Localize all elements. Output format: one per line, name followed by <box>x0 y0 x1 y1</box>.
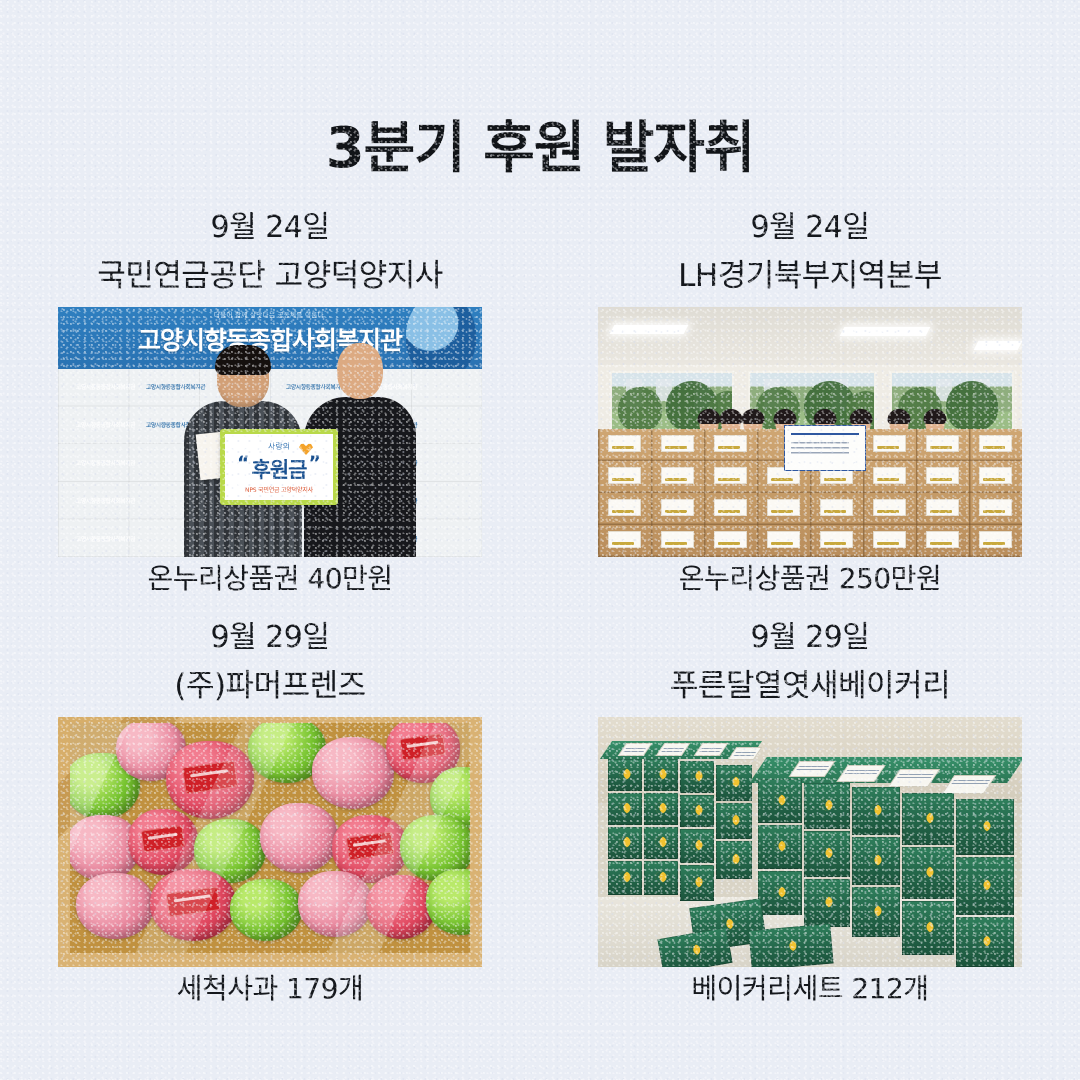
backdrop-logo: 고양시향동종합사회복지관 <box>76 535 135 543</box>
backdrop-logo: 고양시향동종합사회복지관 <box>76 421 135 429</box>
backdrop-logo: 고양시향동종합사회복지관 <box>286 383 345 391</box>
backdrop-logo: 고양시향동종합사회복지관 <box>76 383 135 391</box>
card-organization: 국민연금공단 고양덕양지사 <box>0 258 540 295</box>
placard-title: 후원금 <box>225 454 333 484</box>
donation-ceremony-photo: 더불어 함께 살맛나는 공동체를 이룬다. 고양시향동종합사회복지관 고양시향동… <box>58 307 482 557</box>
ceiling-light <box>840 327 931 336</box>
donation-card: 9월 29일 푸른달열엿새베이커리 <box>540 606 1080 1016</box>
card-caption: 온누리상품권 250만원 <box>540 562 1080 596</box>
card-caption: 세척사과 179개 <box>0 972 540 1006</box>
backdrop-logo: 고양시향동종합사회복지관 <box>76 497 135 505</box>
placard-subtitle: 사랑의 <box>225 441 333 452</box>
ceiling-light <box>610 325 689 334</box>
donation-card: 9월 29일 (주)파머프렌즈 <box>0 606 540 1016</box>
green-bakery-boxes-photo <box>598 717 1022 967</box>
card-organization: LH경기북부지역본부 <box>540 258 1080 295</box>
card-caption: 베이커리세트 212개 <box>540 972 1080 1006</box>
placard-logo: NPS 국민연금 고양덕양지사 <box>225 485 333 494</box>
box-interior <box>70 723 470 953</box>
donation-sign <box>784 425 866 471</box>
card-date: 9월 24일 <box>0 210 540 246</box>
banner-tagline: 더불어 함께 살맛나는 공동체를 이룬다. <box>58 309 482 319</box>
banner-title: 고양시향동종합사회복지관 <box>58 321 482 357</box>
volunteers-with-boxes-photo <box>598 307 1022 557</box>
donation-card: 9월 24일 LH경기북부지역본부 <box>540 196 1080 606</box>
backdrop-logo: 고양시향동종합사회복지관 <box>146 383 205 391</box>
step-and-repeat-backdrop: 고양시향동종합사회복지관 고양시향동종합사회복지관 고양시향동종합사회복지관 고… <box>58 369 482 557</box>
apple-box-photo <box>58 717 482 967</box>
card-date: 9월 29일 <box>540 620 1080 656</box>
card-organization: (주)파머프렌즈 <box>0 668 540 705</box>
card-date: 9월 24일 <box>540 210 1080 246</box>
card-date: 9월 29일 <box>0 620 540 656</box>
donation-card-grid: 9월 24일 국민연금공단 고양덕양지사 더불어 함께 살맛나는 공동체를 이룬… <box>0 196 1080 1016</box>
donation-card: 9월 24일 국민연금공단 고양덕양지사 더불어 함께 살맛나는 공동체를 이룬… <box>0 196 540 606</box>
card-caption: 온누리상품권 40만원 <box>0 562 540 596</box>
ceiling-light <box>974 341 1022 350</box>
card-organization: 푸른달열엿새베이커리 <box>540 668 1080 705</box>
poster-canvas: 3분기 후원 발자취 9월 24일 국민연금공단 고양덕양지사 더불어 함께 살… <box>0 0 1080 1080</box>
page-title: 3분기 후원 발자취 <box>0 118 1080 180</box>
ceiling <box>598 307 1022 365</box>
backdrop-logo: 고양시향동종합사회복지관 <box>76 459 135 467</box>
donation-placard: 사랑의 “ ” 후원금 NPS 국민연금 고양덕양지사 <box>220 429 338 505</box>
